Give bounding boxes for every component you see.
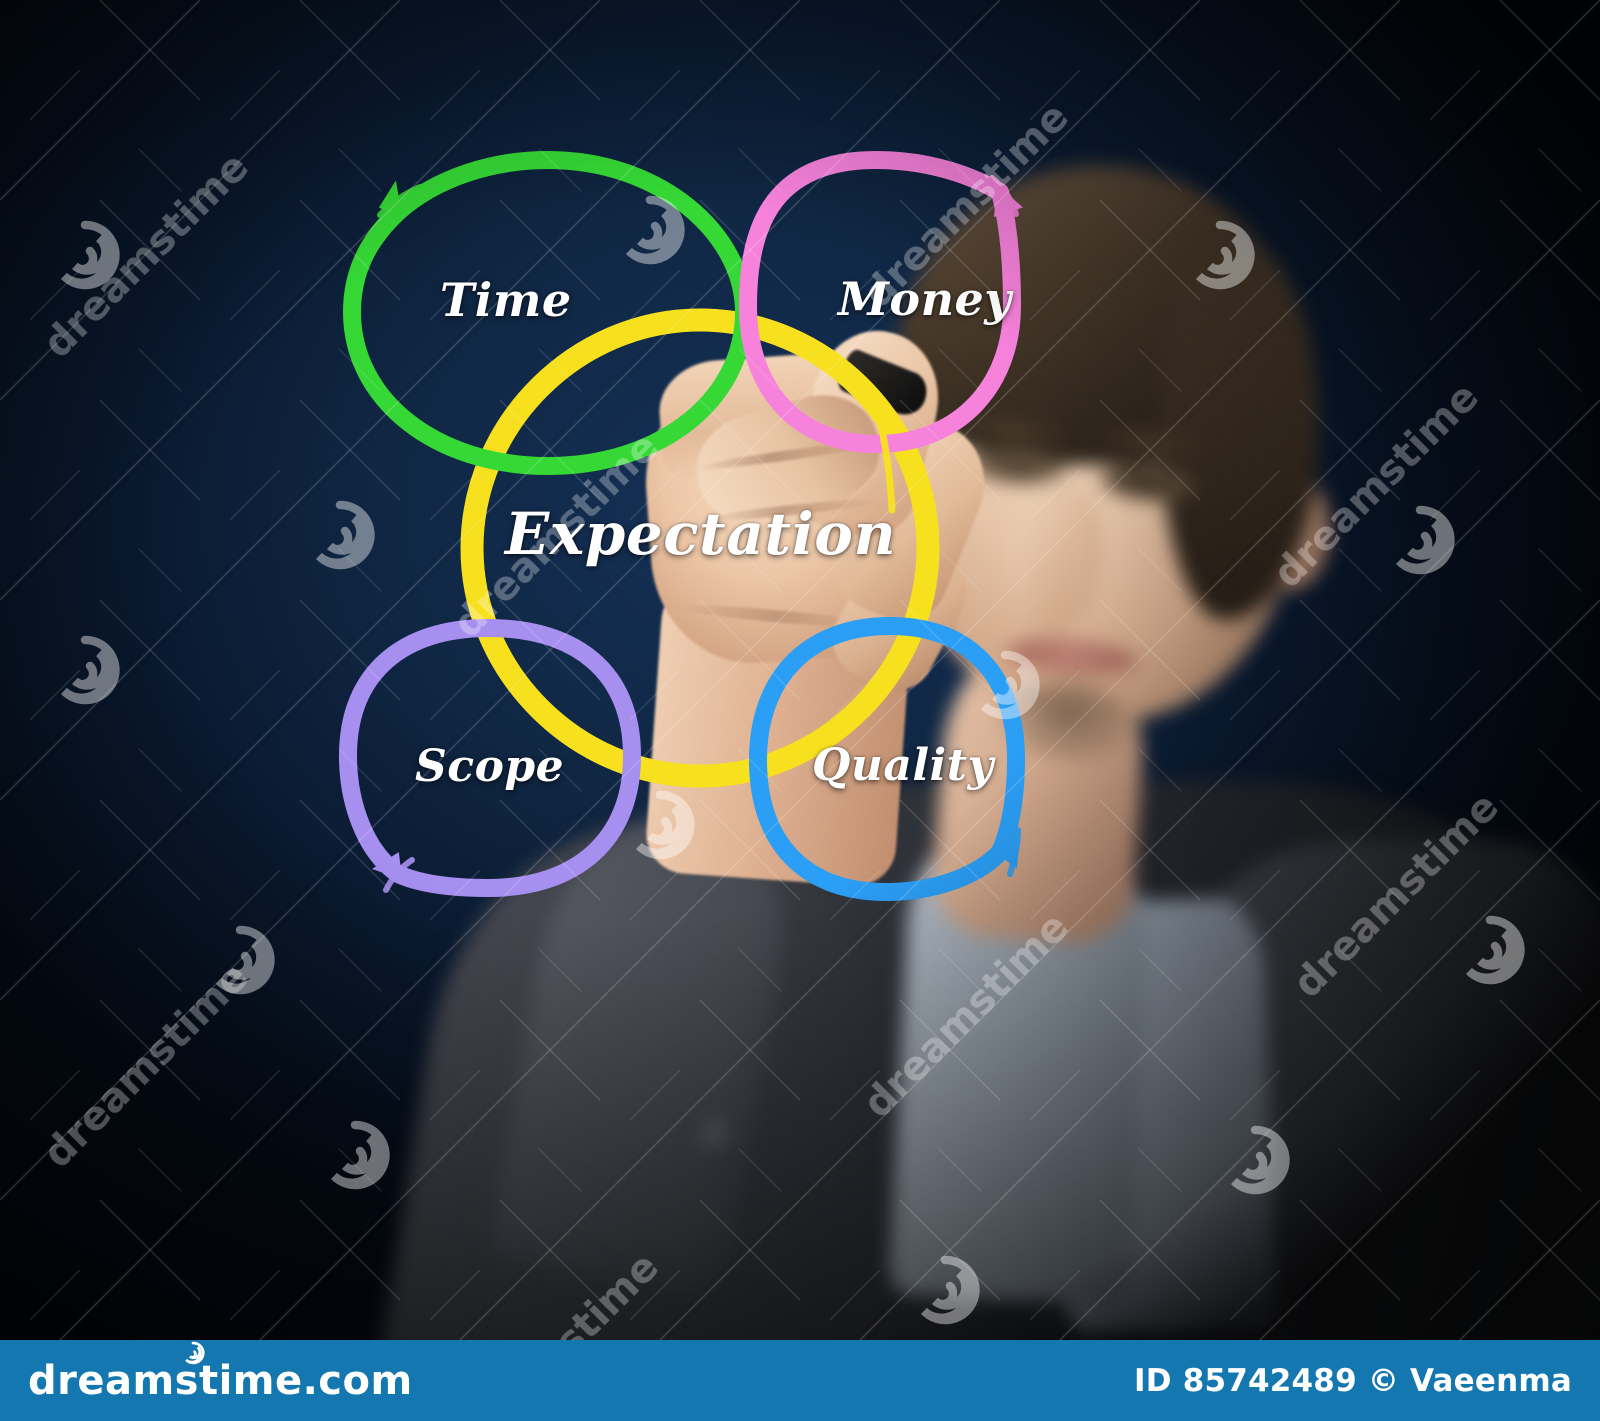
dreamstime-logo-text: dreamstime.com bbox=[28, 1361, 413, 1401]
dreamstime-logo[interactable]: dreamstime.com bbox=[28, 1361, 413, 1401]
photo-area: Time Money Scope Quality Expectation bbox=[0, 0, 1600, 1340]
stock-photo-canvas: Time Money Scope Quality Expectation bbox=[0, 0, 1600, 1421]
dreamstime-footer-bar: dreamstime.com ID 85742489 © Vaeenma bbox=[0, 1340, 1600, 1421]
drawing-hand bbox=[600, 300, 1220, 860]
svg-text:dreamstime: dreamstime bbox=[35, 144, 258, 367]
svg-text:dreamstime: dreamstime bbox=[35, 954, 258, 1177]
spiral-icon bbox=[180, 1340, 206, 1366]
image-credit: ID 85742489 © Vaeenma bbox=[1134, 1363, 1572, 1399]
